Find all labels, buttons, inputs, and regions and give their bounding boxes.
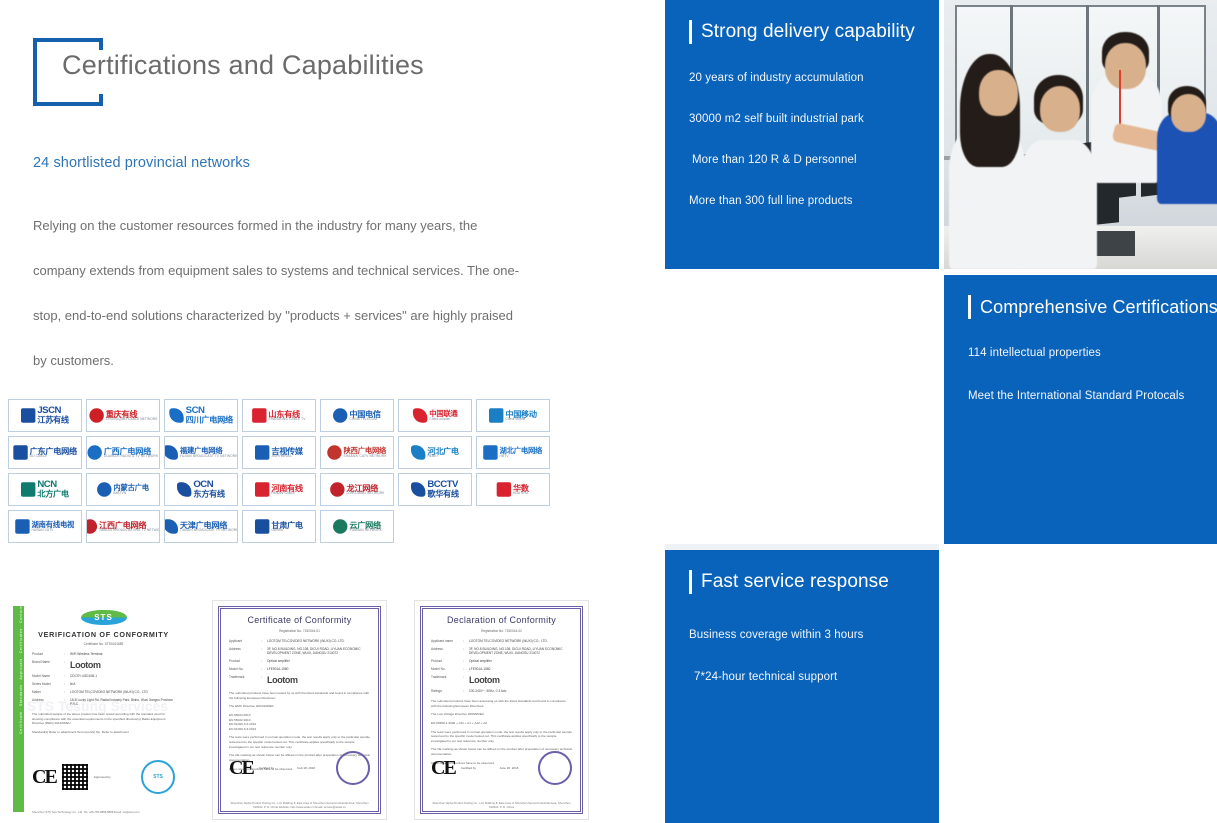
certificate-field-key: Applicant [229, 639, 261, 643]
certificate-title: VERIFICATION OF CONFORMITY [32, 630, 175, 639]
certificate-signature: Approved by [94, 775, 135, 779]
title-accent-bar-icon [968, 295, 971, 319]
certificate-standard: EN 60950-1:2006 + A11 + A1 + A12 + A2 [431, 721, 572, 726]
certificate-seal-icon [538, 751, 572, 785]
partner-logo-row: 广东广电网络GD CABLE广西广电网络GUANGXI RADIO & TV N… [8, 436, 568, 469]
panel-item: Meet the International Standard Protocal… [968, 390, 1203, 402]
ce-mark-icon: CE [229, 757, 253, 780]
partner-logo-cell[interactable]: JSCN江苏有线 [8, 399, 82, 432]
panel-fast-service: Fast service response Business coverage … [665, 550, 939, 823]
panel-title: Fast service response [701, 571, 889, 593]
body-line: Relying on the customer resources formed… [33, 203, 533, 248]
partner-logo-cell[interactable]: 中国移动China Mobile [476, 399, 550, 432]
partner-logo-cn: 歌华有线 [427, 490, 459, 498]
certificate-field-row: Trademark:Lootom [431, 675, 572, 685]
partner-logo-en: HUNAN CATV [32, 528, 75, 532]
certificate-field-row: Address:3F, NO.8 BUILDING, NO.108, DICUI… [229, 647, 370, 655]
partner-logo-en: JIANGXI BROADCASTING TV NETWORK [99, 529, 160, 533]
page-title-block: Certifications and Capabilities [33, 38, 593, 110]
panel-item-list: Business coverage within 3 hours 7*24-ho… [689, 629, 925, 712]
certificate-paragraph: The submitted products have been assessi… [431, 699, 572, 708]
partner-logo-cell[interactable]: 河南有线HENAN CABLE [242, 473, 316, 506]
partner-logo-cell[interactable]: 福建广电网络FUJIAN BROADCAST TV NETWORK [164, 436, 238, 469]
certificate-field-value: LFE901A-1580 [267, 667, 370, 671]
partner-logo-mark-icon [255, 445, 269, 459]
certificate-footer: Shenzhen Alpha Product Testing Co., Ltd.… [229, 801, 370, 809]
partner-logo-en: FUJIAN BROADCAST TV NETWORK [180, 454, 238, 458]
certificate-registration: Registration No. 7150044-02 [431, 629, 572, 633]
right-panel-grid: Strong delivery capability 20 years of i… [665, 0, 1217, 823]
panel-strong-delivery: Strong delivery capability 20 years of i… [665, 0, 939, 269]
partner-logo-mark-icon [89, 408, 103, 422]
certificate-field-row: Product:Optical amplifier [431, 659, 572, 663]
certificate-field-value: Lootom [267, 675, 370, 685]
partner-logo-cell[interactable]: 江西广电网络JIANGXI BROADCASTING TV NETWORK [86, 510, 160, 543]
panel-title-row: Comprehensive Certifications [968, 295, 1217, 319]
partner-logo-en: GANSU [271, 529, 303, 533]
certificate-paragraph: The submitted sample of the above produc… [32, 712, 175, 726]
partner-logo-cell[interactable]: SCN四川广电网络 [164, 399, 238, 432]
partner-logo-mark-icon [177, 482, 191, 496]
certificate-signature: Certified by [259, 766, 292, 770]
certificate-field-row: Applicant:LOOTOM TELCOVIDEO NETWORK (WUX… [229, 639, 370, 643]
certificate-card[interactable]: Certificate · Standards · Approvals · Ce… [10, 600, 185, 820]
certificate-field-key: Trademark [431, 675, 463, 685]
certificate-seal-icon [336, 751, 370, 785]
partner-logo-cell[interactable]: 天津广电网络TIANJIN BROADCAST TV NETWORK [164, 510, 238, 543]
sts-logo-icon: STS [81, 610, 127, 625]
panel-item-list: 114 intellectual properties Meet the Int… [968, 347, 1203, 431]
left-column: Certifications and Capabilities 24 short… [0, 0, 665, 823]
panel-title-row: Fast service response [689, 570, 889, 594]
partner-logo-mark-icon [333, 519, 347, 533]
partner-logo-mark-icon [164, 445, 178, 459]
partner-logo-cell[interactable]: NCN北方广电 [8, 473, 82, 506]
certificate-field-row: Trademark:Lootom [229, 675, 370, 685]
partner-logo-cell[interactable]: 吉视传媒JISHI MEDIA [242, 436, 316, 469]
partner-logo-en: SHAANXI CATV NETWORK [344, 454, 387, 458]
certificate-field-value: LFE901A-1580 [469, 667, 572, 671]
partner-logo-en: HBTV [500, 454, 543, 458]
partner-logo-cell[interactable]: 陕西广电网络SHAANXI CATV NETWORK [320, 436, 394, 469]
partner-logo-cell[interactable]: 广西广电网络GUANGXI RADIO & TV NETWORK [86, 436, 160, 469]
certificate-gallery: Certificate · Standards · Approvals · Ce… [10, 600, 589, 820]
certificate-card[interactable]: Declaration of Conformity Registration N… [414, 600, 589, 820]
partner-logo-mark-icon [484, 445, 498, 459]
partner-logo-en: IMBTVN [113, 491, 148, 495]
certificate-field-row: Product:WiFi Wireless Terminal [32, 652, 175, 656]
partner-logo-mark-icon [88, 445, 102, 459]
panel-title-row: Strong delivery capability [689, 20, 915, 44]
partner-logo-en: GUANGXI RADIO & TV NETWORK [104, 455, 158, 459]
certificate-field-key: Model Name [32, 674, 64, 678]
certificate-field-value: WiFi Wireless Terminal [70, 652, 175, 656]
certificate-field-value: Optical amplifier [267, 659, 370, 663]
certificate-seal-icon: STS [141, 760, 175, 794]
body-line: company extends from equipment sales to … [33, 248, 533, 293]
panel-item-list: 20 years of industry accumulation 30000 … [689, 72, 925, 236]
partner-logo-cell[interactable]: OCN东方有线 [164, 473, 238, 506]
panel-photo-lab-team [944, 0, 1217, 269]
certificate-note: Standard(s) Refer to attachment Test rep… [32, 730, 175, 735]
partner-logo-mark-icon [21, 482, 35, 496]
partner-logo-mark-icon [86, 519, 97, 533]
partner-logo-en: JISHI MEDIA [271, 455, 303, 459]
certificate-field-row: Brand Name:Lootom [32, 660, 175, 670]
certificate-field-value: 100-240V~, 50Hz, 0.3 Adc [469, 689, 572, 693]
certificate-field-row: Maker:LOOTOM TELCOVIDEO NETWORK (WUXI) C… [32, 690, 175, 694]
partner-logo-mark-icon [169, 408, 183, 422]
partner-logo-cell[interactable]: 中国联通China unicom [398, 399, 472, 432]
certificate-watermark: STS Testing Services [27, 698, 168, 714]
certificate-field-value: Optical amplifier [469, 659, 572, 663]
partner-logo-en: HEBEI [427, 455, 459, 459]
ce-mark-icon: CE [431, 757, 455, 780]
partner-logo-mark-icon [252, 408, 266, 422]
panel-title: Comprehensive Certifications [980, 297, 1217, 318]
partner-logo-en: China unicom [429, 417, 457, 421]
partner-logo-row: JSCN江苏有线重庆有线CHONGQING CABLE NETWORKSCN四川… [8, 399, 568, 432]
certificate-field-row: Address:3F, NO.8 BUILDING, NO.108, DICUI… [431, 647, 572, 655]
partner-logo-en: HENAN CABLE [271, 492, 303, 496]
certificate-field-value: CDCSY-4GD10B-1 [70, 674, 175, 678]
certificate-field-key: Product [229, 659, 261, 663]
certificate-field-row: Model Name:CDCSY-4GD10B-1 [32, 674, 175, 678]
panel-item: 30000 m2 self built industrial park [689, 113, 925, 125]
body-paragraph: Relying on the customer resources formed… [33, 203, 533, 383]
title-accent-bar-icon [689, 570, 692, 594]
partner-logo-mark-icon [497, 482, 511, 496]
certificate-standard: EN 61000-3-3:2013 [229, 727, 370, 732]
certificate-paragraph: The submitted products have been tested … [229, 691, 370, 700]
partner-logo-row: NCN北方广电内蒙古广电IMBTVNOCN东方有线河南有线HENAN CABLE… [8, 473, 568, 506]
qr-code-icon [62, 764, 88, 790]
certificate-field-row: Product:Optical amplifier [229, 659, 370, 663]
certificate-field-key: Brand Name [32, 660, 64, 670]
panel-comprehensive-certifications: Comprehensive Certifications 114 intelle… [944, 275, 1217, 544]
partner-logo-cn: 北方广电 [37, 490, 69, 498]
certificate-field-row: Applicant name:LOOTOM TELCOVIDEO NETWORK… [431, 639, 572, 643]
body-line: stop, end-to-end solutions characterized… [33, 293, 533, 338]
partner-logo-en: SHANDONG CABLE TV [269, 418, 306, 422]
certificate-standards: EN 60950-1:2006 + A11 + A1 + A12 + A2 [431, 721, 572, 726]
partner-logo-mark-icon [21, 408, 35, 422]
partner-logo-en: HUA SHU [513, 492, 529, 496]
panel-item: 114 intellectual properties [968, 347, 1203, 359]
partner-logo-mark-icon [164, 519, 178, 533]
partner-logo-cell[interactable]: 云广网络YUNNAN NETWORK [320, 510, 394, 543]
partner-logo-cell[interactable]: 河北广电HEBEI [398, 436, 472, 469]
panel-item: 20 years of industry accumulation [689, 72, 925, 84]
certificate-field-row: Series Model:N/A [32, 682, 175, 686]
certificate-footer: Shenzhen Alpha Product Testing Co., Ltd.… [431, 801, 572, 809]
panel-item: More than 120 R & D personnel [689, 154, 925, 166]
certificate-field-value: 3F, NO.8 BUILDING, NO.108, DICUI ROAD, L… [469, 647, 572, 655]
partner-logo-cn: 江苏有线 [37, 416, 69, 424]
panel-title: Strong delivery capability [701, 21, 915, 43]
certificate-standards: EN 55024:2010EN 55022:2010EN 61000-3-2:2… [229, 713, 370, 732]
certificate-date: Feb 18, 2016 [297, 766, 330, 770]
certificate-field-key: Address [229, 647, 261, 655]
partner-logo-mark-icon [411, 445, 425, 459]
partner-logo-cell[interactable]: 广东广电网络GD CABLE [8, 436, 82, 469]
partner-logo-en: China Mobile [505, 418, 536, 422]
partner-logo-mark-icon [333, 408, 347, 422]
certificate-field-value: Lootom [70, 660, 175, 670]
partner-logo-row: 湖南有线电视HUNAN CATV江西广电网络JIANGXI BROADCASTI… [8, 510, 568, 543]
certificate-card[interactable]: Certificate of Conformity Registration N… [212, 600, 387, 820]
partner-logo-en: LONGJIANG NETWORK [346, 492, 384, 496]
partner-logo-en: CHONGQING CABLE NETWORK [105, 418, 157, 422]
certificate-date: June 20, 2016 [499, 766, 532, 770]
certificate-directive: The EMC Directive 2004/108/EC [229, 704, 370, 709]
partner-logo-mark-icon [413, 408, 427, 422]
partner-logo-mark-icon [97, 482, 111, 496]
partner-logo-cell[interactable]: 中国电信CHINA TELECOM [320, 399, 394, 432]
partner-logo-en: YUNNAN NETWORK [349, 529, 382, 533]
certificate-field-row: Ratings:100-240V~, 50Hz, 0.3 Adc [431, 689, 572, 693]
certificate-field-key: Address [431, 647, 463, 655]
certificate-paragraph-2: The tests were performed in normal opera… [229, 735, 370, 749]
panel-item: 7*24-hour technical support [689, 671, 925, 683]
partner-logo-cell[interactable]: 龙江网络LONGJIANG NETWORK [320, 473, 394, 506]
body-line: by customers. [33, 338, 533, 383]
certificate-field-value: Lootom [469, 675, 572, 685]
certificate-signature: Certified by [461, 766, 494, 770]
certificate-field-key: Trademark [229, 675, 261, 685]
certificate-field-row: Model No.:LFE901A-1580 [431, 667, 572, 671]
certificate-registration: Registration No. 7150044-01 [229, 629, 370, 633]
partner-logo-mark-icon [255, 519, 269, 533]
partner-logo-cell[interactable]: 湖南有线电视HUNAN CATV [8, 510, 82, 543]
certificate-field-value: 3F, NO.8 BUILDING, NO.108, DICUI ROAD, L… [267, 647, 370, 655]
partner-logo-mark-icon [16, 519, 30, 533]
partner-logo-cell[interactable]: 湖北广电网络HBTV [476, 436, 550, 469]
certificate-directive: The Low Voltage Directive 2006/95/EC [431, 712, 572, 717]
partner-logo-grid: JSCN江苏有线重庆有线CHONGQING CABLE NETWORKSCN四川… [8, 399, 568, 547]
ce-mark-icon: CE [32, 766, 56, 789]
partner-logo-cell[interactable]: BCCTV歌华有线 [398, 473, 472, 506]
certificate-field-key: Maker [32, 690, 64, 694]
certificate-paragraph-2: The tests were performed in normal opera… [431, 730, 572, 744]
certificate-field-value: LOOTOM TELCOVIDEO NETWORK (WUXI) CO., LT… [70, 690, 175, 694]
partner-logo-mark-icon [489, 408, 503, 422]
partner-logo-cell[interactable]: 华数HUA SHU [476, 473, 550, 506]
partner-logo-mark-icon [13, 445, 27, 459]
panel-item: More than 300 full line products [689, 195, 925, 207]
partner-logo-mark-icon [255, 482, 269, 496]
certificate-field-value: N/A [70, 682, 175, 686]
panel-item: Business coverage within 3 hours [689, 629, 925, 641]
partner-logo-en: CHINA TELECOM [349, 418, 381, 422]
slide-root: Certifications and Capabilities 24 short… [0, 0, 1217, 823]
partner-logo-cell[interactable]: 山东有线SHANDONG CABLE TV [242, 399, 316, 432]
certificate-field-row: Model No.:LFE901A-1580 [229, 667, 370, 671]
certificate-field-key: Applicant name [431, 639, 463, 643]
certificate-field-key: Model No. [431, 667, 463, 671]
certificate-title: Certificate of Conformity [229, 615, 370, 625]
partner-logo-cell[interactable]: 甘肃广电GANSU [242, 510, 316, 543]
partner-logo-cn: 东方有线 [193, 490, 225, 498]
section-subheading: 24 shortlisted provincial networks [33, 155, 250, 171]
certificate-footer: Shenzhen STS Test Technology Co., Ltd. T… [32, 810, 175, 814]
page-title: Certifications and Capabilities [62, 50, 424, 81]
partner-logo-cell[interactable]: 内蒙古广电IMBTVN [86, 473, 160, 506]
partner-logo-mark-icon [330, 482, 344, 496]
certificate-title: Declaration of Conformity [431, 615, 572, 625]
partner-logo-mark-icon [411, 482, 425, 496]
certificate-field-key: Ratings [431, 689, 463, 693]
certificate-field-key: Product [32, 652, 64, 656]
title-accent-bar-icon [689, 20, 692, 44]
certificate-registration: Certificate No. STS0161689 [32, 642, 175, 646]
certificate-field-key: Product [431, 659, 463, 663]
partner-logo-en: TIANJIN BROADCAST TV NETWORK [180, 529, 238, 533]
certificate-field-list: Applicant:LOOTOM TELCOVIDEO NETWORK (WUX… [229, 639, 370, 685]
certificate-field-list: Applicant name:LOOTOM TELCOVIDEO NETWORK… [431, 639, 572, 693]
partner-logo-cn: 四川广电网络 [186, 416, 233, 424]
partner-logo-mark-icon [327, 445, 341, 459]
certificate-field-value: LOOTOM TELCOVIDEO NETWORK (WUXI) CO., LT… [469, 639, 572, 643]
certificate-field-value: LOOTOM TELCOVIDEO NETWORK (WUXI) CO.,LTD… [267, 639, 370, 643]
partner-logo-en: GD CABLE [30, 455, 77, 459]
certificate-field-key: Series Model [32, 682, 64, 686]
certificate-field-key: Model No. [229, 667, 261, 671]
partner-logo-cell[interactable]: 重庆有线CHONGQING CABLE NETWORK [86, 399, 160, 432]
